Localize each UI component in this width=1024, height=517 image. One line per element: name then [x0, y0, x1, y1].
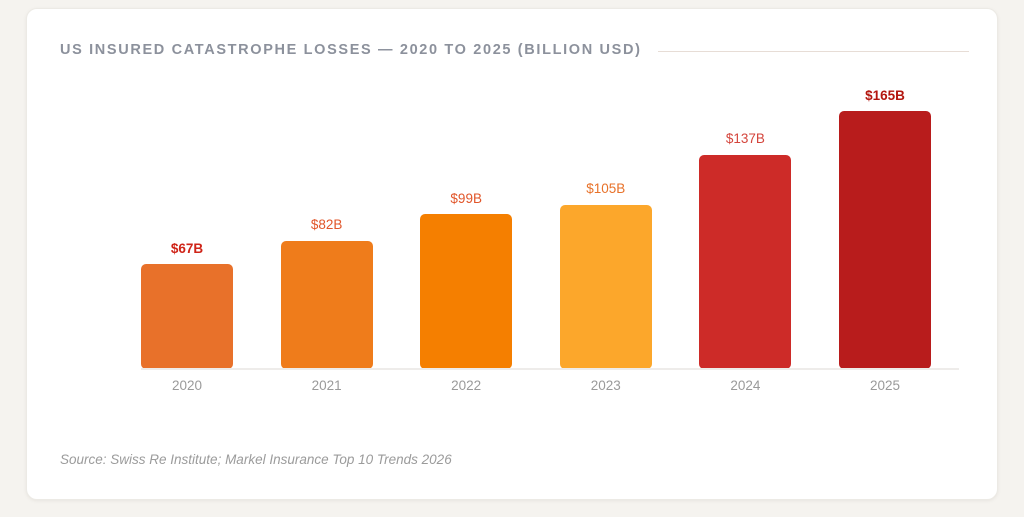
bar-value-label: $67B — [171, 242, 203, 256]
bar-rect[interactable] — [141, 264, 233, 369]
x-axis-baseline — [141, 368, 959, 370]
x-tick-2021: 2021 — [281, 378, 373, 393]
x-axis-tick-labels: 202020212022202320242025 — [141, 378, 931, 393]
bar-value-label: $82B — [311, 218, 343, 232]
chart-header: US INSURED CATASTROPHE LOSSES — 2020 TO … — [60, 39, 969, 61]
bar-group-2021[interactable]: $82B — [281, 81, 373, 369]
chart-card: US INSURED CATASTROPHE LOSSES — 2020 TO … — [26, 8, 998, 500]
bar-group-2023[interactable]: $105B — [560, 81, 652, 369]
title-divider — [658, 51, 969, 52]
bar-rect[interactable] — [699, 155, 791, 369]
x-tick-2020: 2020 — [141, 378, 233, 393]
bar-rect[interactable] — [281, 241, 373, 369]
bar-value-label: $165B — [865, 89, 905, 103]
bar-value-label: $137B — [726, 132, 765, 146]
bar-group-2022[interactable]: $99B — [420, 81, 512, 369]
bar-group-2025[interactable]: $165B — [839, 81, 931, 369]
bar-rect[interactable] — [560, 205, 652, 369]
source-note: Source: Swiss Re Institute; Markel Insur… — [60, 452, 452, 467]
bar-chart-plot-area: $67B$82B$99B$105B$137B$165B — [141, 81, 931, 369]
bar-group-2024[interactable]: $137B — [699, 81, 791, 369]
bar-rect[interactable] — [420, 214, 512, 369]
x-tick-2022: 2022 — [420, 378, 512, 393]
x-tick-2023: 2023 — [560, 378, 652, 393]
page-title: US INSURED CATASTROPHE LOSSES — 2020 TO … — [60, 42, 642, 58]
x-tick-2024: 2024 — [699, 378, 791, 393]
bar-group-2020[interactable]: $67B — [141, 81, 233, 369]
x-tick-2025: 2025 — [839, 378, 931, 393]
bar-series: $67B$82B$99B$105B$137B$165B — [141, 81, 931, 369]
bar-value-label: $105B — [586, 182, 625, 196]
bar-rect[interactable] — [839, 111, 931, 369]
bar-value-label: $99B — [450, 192, 482, 206]
